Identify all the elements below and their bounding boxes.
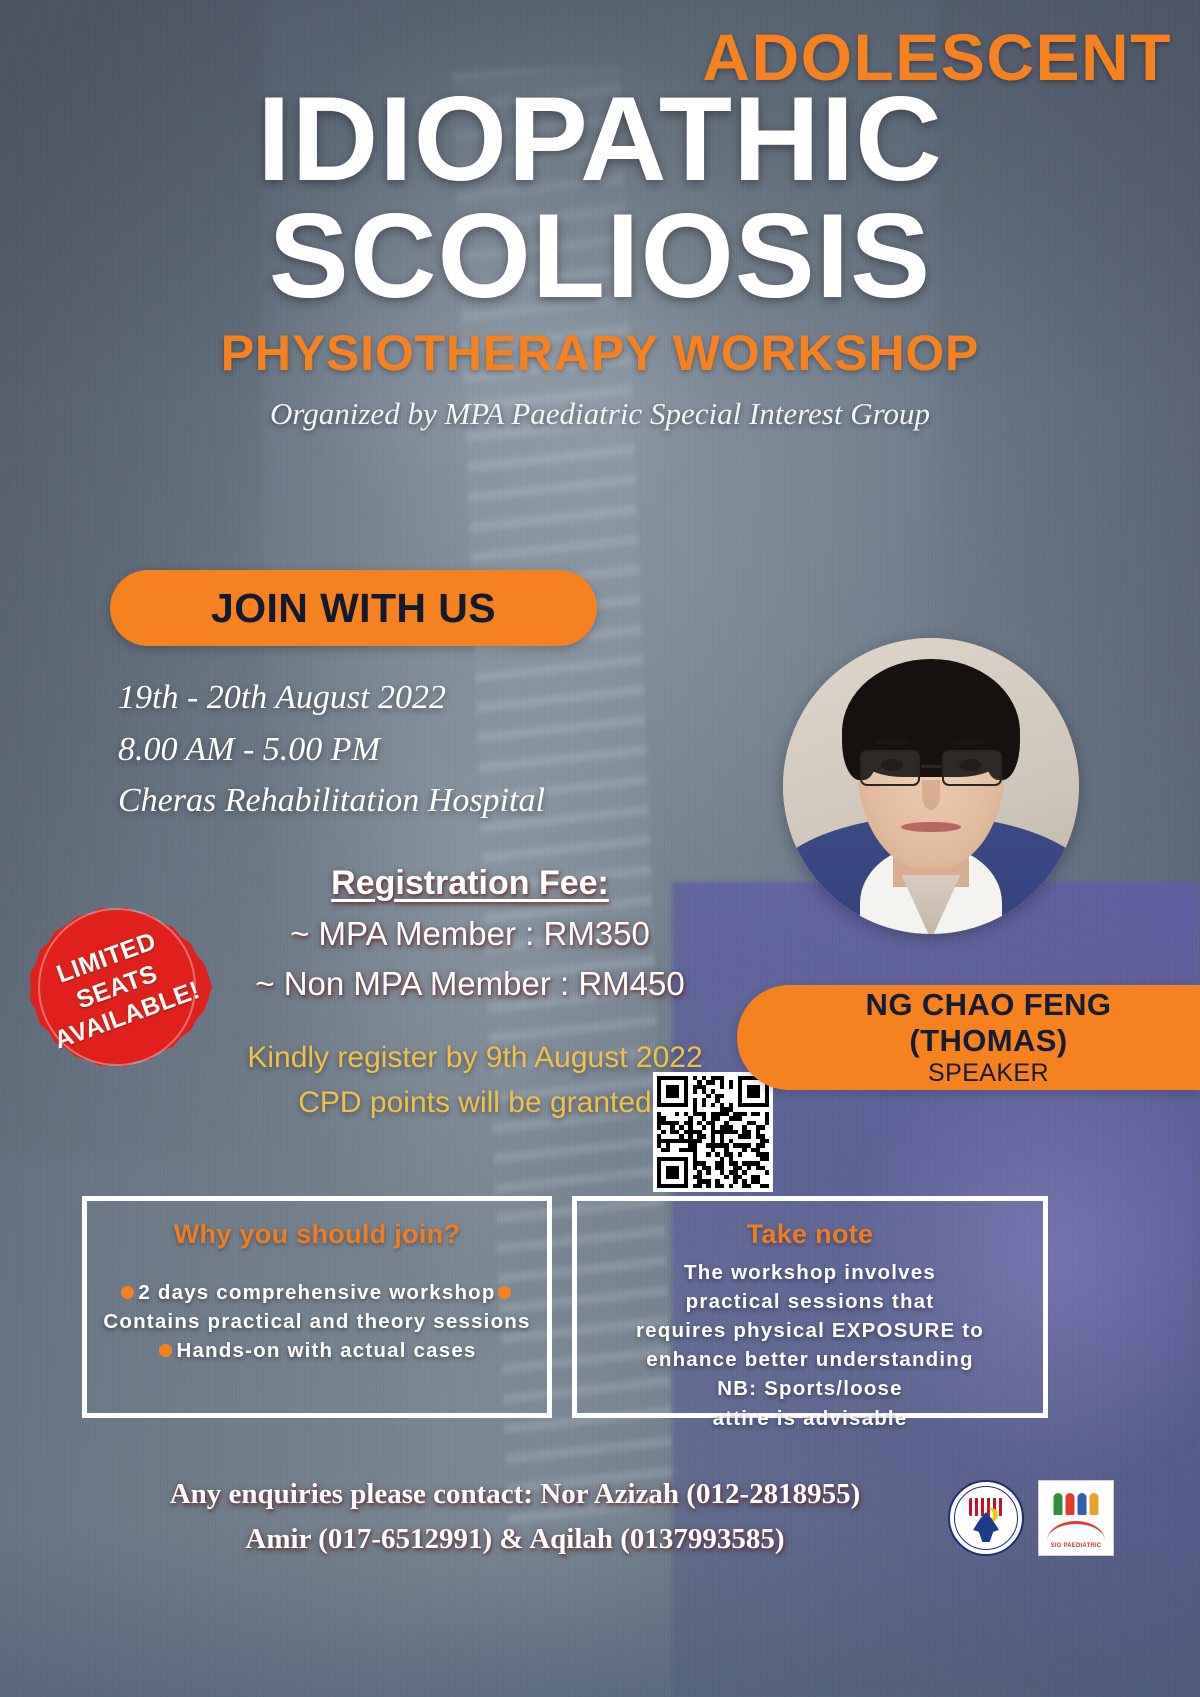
event-time: 8.00 AM - 5.00 PM [118, 724, 545, 776]
avatar-nose [922, 780, 940, 810]
contact-line-2: Amir (017-6512991) & Aqilah (0137993585) [120, 1517, 910, 1562]
mpa-logo-icon [948, 1480, 1024, 1556]
take-note-line-2: practical sessions that [587, 1287, 1033, 1316]
why-join-line-2b: Contains practical [103, 1310, 302, 1333]
take-note-line-6: attire is advisable [587, 1404, 1033, 1433]
psig-logo-children [1054, 1493, 1099, 1515]
take-note-box: Take note The workshop involves practica… [572, 1196, 1048, 1418]
psig-logo-arc [1047, 1521, 1105, 1541]
registration-qr-code[interactable] [653, 1072, 773, 1192]
poster-canvas: ADOLESCENT IDIOPATHIC SCOLIOSIS PHYSIOTH… [0, 0, 1200, 1697]
badge-text: LIMITED SEATS AVAILABLE! [0, 865, 239, 1109]
qr-code-matrix [657, 1076, 769, 1188]
bullet-dot-icon [498, 1286, 511, 1299]
event-venue: Cheras Rehabilitation Hospital [118, 775, 545, 827]
registration-fee-heading: Registration Fee: [210, 858, 730, 909]
psig-logo-caption: SIG PAEDIATRIC [1039, 1543, 1113, 1549]
take-note-body: The workshop involves practical sessions… [577, 1258, 1043, 1433]
psig-child-1 [1054, 1493, 1063, 1515]
speaker-role: SPEAKER [928, 1058, 1049, 1088]
take-note-line-1: The workshop involves [587, 1258, 1033, 1287]
paediatric-sig-logo-icon: SIG PAEDIATRIC [1038, 1480, 1114, 1556]
avatar-mouth [901, 822, 960, 832]
footer-logos: SIG PAEDIATRIC [948, 1480, 1114, 1556]
bullet-dot-icon [159, 1344, 172, 1357]
take-note-line-5: NB: Sports/loose [587, 1374, 1033, 1403]
title-subtitle: PHYSIOTHERAPY WORKSHOP [0, 324, 1200, 382]
contact-footer: Any enquiries please contact: Nor Azizah… [120, 1472, 910, 1562]
join-with-us-label: JOIN WITH US [211, 585, 496, 632]
bullet-dot-icon [121, 1286, 134, 1299]
fee-non-member: ~ Non MPA Member : RM450 [210, 959, 730, 1009]
why-join-line-2a: workshop [389, 1281, 495, 1304]
registration-fee-block: Registration Fee: ~ MPA Member : RM350 ~… [210, 858, 730, 1008]
avatar-brow-right [952, 739, 988, 746]
title-line-2: SCOLIOSIS [0, 199, 1200, 314]
why-join-line-4: with actual cases [287, 1339, 476, 1362]
take-note-line-4: enhance better understanding [587, 1345, 1033, 1374]
speaker-avatar [783, 638, 1079, 934]
why-join-box: Why you should join? 2 days comprehensiv… [82, 1196, 552, 1418]
speaker-name: NG CHAO FENG [866, 987, 1112, 1023]
glasses-bridge [921, 765, 941, 768]
title-line-1: IDIOPATHIC [0, 82, 1200, 197]
why-join-line-3b: Hands-on [176, 1339, 280, 1362]
psig-child-2 [1066, 1493, 1075, 1515]
avatar-eye-left [881, 759, 903, 771]
organizer-line: Organized by MPA Paediatric Special Inte… [0, 396, 1200, 432]
why-join-title: Why you should join? [87, 1219, 547, 1250]
take-note-title: Take note [577, 1219, 1043, 1250]
why-join-body: 2 days comprehensive workshopContains pr… [87, 1278, 547, 1365]
avatar-brow-left [875, 739, 911, 746]
event-details: 19th - 20th August 2022 8.00 AM - 5.00 P… [118, 672, 545, 827]
contact-line-1: Any enquiries please contact: Nor Azizah… [120, 1472, 910, 1517]
event-date: 19th - 20th August 2022 [118, 672, 545, 724]
psig-child-4 [1090, 1493, 1099, 1515]
speaker-name-card: NG CHAO FENG (THOMAS) SPEAKER [737, 985, 1200, 1090]
psig-child-3 [1078, 1493, 1087, 1515]
why-join-line-3a: and theory sessions [310, 1310, 531, 1333]
title-block: ADOLESCENT IDIOPATHIC SCOLIOSIS PHYSIOTH… [0, 0, 1200, 432]
fee-member: ~ MPA Member : RM350 [210, 909, 730, 959]
limited-seats-badge: LIMITED SEATS AVAILABLE! [22, 892, 212, 1082]
join-with-us-button[interactable]: JOIN WITH US [110, 570, 597, 646]
speaker-nickname: (THOMAS) [909, 1023, 1067, 1059]
take-note-line-3: requires physical EXPOSURE to [587, 1316, 1033, 1345]
why-join-line-1: 2 days comprehensive [138, 1281, 382, 1304]
